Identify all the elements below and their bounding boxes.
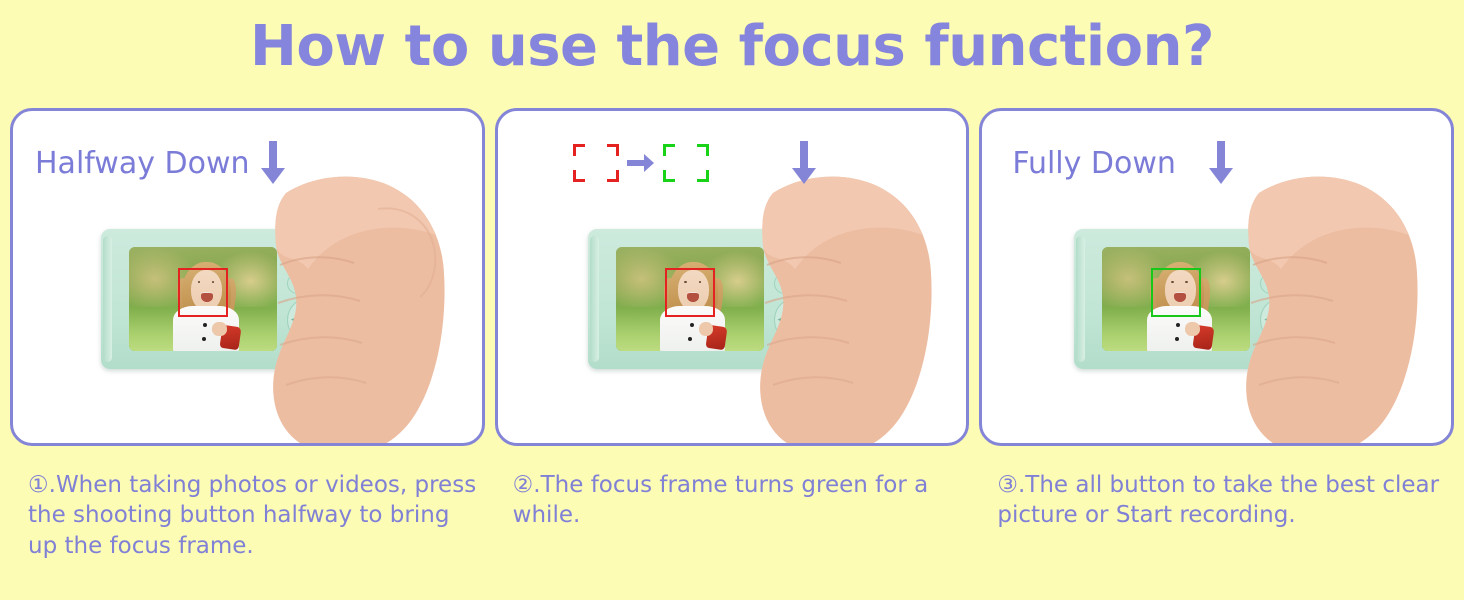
camera-lcd-1 bbox=[129, 247, 277, 351]
camera-controls-3: W T ▲ ▼ ◀ ▶ OK MENU bbox=[1252, 235, 1332, 363]
camera-side-edge bbox=[590, 236, 599, 362]
caption-row: ①.When taking photos or videos, press th… bbox=[10, 470, 1454, 561]
disp-button[interactable]: DISP bbox=[1285, 347, 1307, 363]
panel-row: Halfway Down bbox=[10, 108, 1454, 446]
ok-button[interactable]: OK bbox=[300, 310, 320, 330]
caption-2-text: The focus frame turns green for a while. bbox=[513, 472, 929, 528]
dpad-down-icon[interactable]: ▼ bbox=[794, 332, 799, 339]
caption-3: ③.The all button to take the best clear … bbox=[979, 470, 1454, 561]
ok-button[interactable]: OK bbox=[1273, 310, 1293, 330]
trash-icon[interactable] bbox=[287, 273, 308, 294]
camera-body-1: W T ▲ ▼ ◀ ▶ OK MENU bbox=[101, 229, 363, 369]
camera-side-edge bbox=[1076, 236, 1085, 362]
zoom-tele-label: T bbox=[322, 242, 337, 253]
rocker-divider bbox=[1287, 242, 1295, 254]
trash-icon[interactable] bbox=[1260, 273, 1281, 294]
camera-lcd-3 bbox=[1102, 247, 1250, 351]
page-title: How to use the focus function? bbox=[0, 0, 1464, 78]
focus-frame-1 bbox=[178, 268, 228, 317]
camera-body-2: W T ▲ ▼ ◀ ▶ OK MENU bbox=[588, 229, 850, 369]
dpad-left-icon[interactable]: ◀ bbox=[1264, 317, 1269, 324]
camera-grip bbox=[348, 259, 357, 321]
camera-grip bbox=[835, 259, 844, 321]
disp-button[interactable]: DISP bbox=[312, 347, 334, 363]
zoom-tele-label: T bbox=[809, 242, 824, 253]
dpad-down-icon[interactable]: ▼ bbox=[1281, 332, 1286, 339]
caption-1-text: When taking photos or videos, press the … bbox=[28, 472, 476, 559]
focus-frame-3 bbox=[1151, 268, 1201, 317]
dpad-right-icon[interactable]: ▶ bbox=[810, 317, 815, 324]
menu-button[interactable]: MENU bbox=[769, 347, 791, 363]
caption-2: ②.The focus frame turns green for a whil… bbox=[495, 470, 970, 561]
disp-button[interactable]: DISP bbox=[799, 347, 821, 363]
step-panel-2: W T ▲ ▼ ◀ ▶ OK MENU bbox=[495, 108, 970, 446]
arrow-right-icon bbox=[627, 154, 655, 172]
step-panel-3: Fully Down bbox=[979, 108, 1454, 446]
dpad-right-icon[interactable]: ▶ bbox=[324, 317, 329, 324]
dpad-right-icon[interactable]: ▶ bbox=[1297, 317, 1302, 324]
focus-frame-green-icon bbox=[663, 144, 709, 182]
panel-3-heading: Fully Down bbox=[1012, 146, 1176, 181]
camera-controls-2: W T ▲ ▼ ◀ ▶ OK MENU bbox=[766, 235, 846, 363]
dpad-wheel[interactable]: ▲ ▼ ◀ ▶ OK bbox=[1260, 297, 1306, 343]
zoom-rocker[interactable]: W T bbox=[772, 239, 834, 256]
step-panel-1: Halfway Down bbox=[10, 108, 485, 446]
dpad-wheel[interactable]: ▲ ▼ ◀ ▶ OK bbox=[287, 297, 333, 343]
indicator-leds bbox=[1272, 261, 1289, 266]
dpad-left-icon[interactable]: ◀ bbox=[778, 317, 783, 324]
zoom-wide-label: W bbox=[1268, 242, 1287, 253]
zoom-wide-label: W bbox=[295, 242, 314, 253]
dpad-up-icon[interactable]: ▲ bbox=[794, 301, 799, 308]
camera-body-3: W T ▲ ▼ ◀ ▶ OK MENU bbox=[1074, 229, 1336, 369]
dpad-up-icon[interactable]: ▲ bbox=[307, 301, 312, 308]
focus-frame-transition bbox=[573, 144, 709, 182]
menu-button[interactable]: MENU bbox=[282, 347, 304, 363]
panel-1-heading: Halfway Down bbox=[35, 146, 250, 181]
dpad-wheel[interactable]: ▲ ▼ ◀ ▶ OK bbox=[774, 297, 820, 343]
camera-controls-1: W T ▲ ▼ ◀ ▶ OK MENU bbox=[279, 235, 359, 363]
rocker-divider bbox=[801, 242, 809, 254]
zoom-tele-label: T bbox=[1295, 242, 1310, 253]
indicator-leds bbox=[299, 261, 316, 266]
caption-1-number: ①. bbox=[28, 472, 56, 498]
zoom-wide-label: W bbox=[782, 242, 801, 253]
ok-button[interactable]: OK bbox=[787, 310, 807, 330]
caption-1: ①.When taking photos or videos, press th… bbox=[10, 470, 485, 561]
caption-3-number: ③. bbox=[997, 472, 1025, 498]
camera-grip bbox=[1321, 259, 1330, 321]
arrow-down-icon bbox=[260, 141, 286, 185]
caption-3-text: The all button to take the best clear pi… bbox=[997, 472, 1439, 528]
focus-frame-2 bbox=[665, 268, 715, 317]
zoom-rocker[interactable]: W T bbox=[285, 239, 347, 256]
trash-icon[interactable] bbox=[774, 273, 795, 294]
panel-3-header: Fully Down bbox=[1012, 141, 1234, 185]
arrow-down-icon bbox=[791, 141, 817, 185]
dpad-left-icon[interactable]: ◀ bbox=[291, 317, 296, 324]
menu-button[interactable]: MENU bbox=[1255, 347, 1277, 363]
panel-1-header: Halfway Down bbox=[35, 141, 286, 185]
focus-frame-red-icon bbox=[573, 144, 619, 182]
dpad-down-icon[interactable]: ▼ bbox=[307, 332, 312, 339]
indicator-leds bbox=[786, 261, 803, 266]
rocker-divider bbox=[314, 242, 322, 254]
panel-2-header bbox=[498, 141, 967, 185]
camera-side-edge bbox=[103, 236, 112, 362]
camera-lcd-2 bbox=[616, 247, 764, 351]
caption-2-number: ②. bbox=[513, 472, 541, 498]
dpad-up-icon[interactable]: ▲ bbox=[1281, 301, 1286, 308]
zoom-rocker[interactable]: W T bbox=[1258, 239, 1320, 256]
arrow-down-icon bbox=[1208, 141, 1234, 185]
